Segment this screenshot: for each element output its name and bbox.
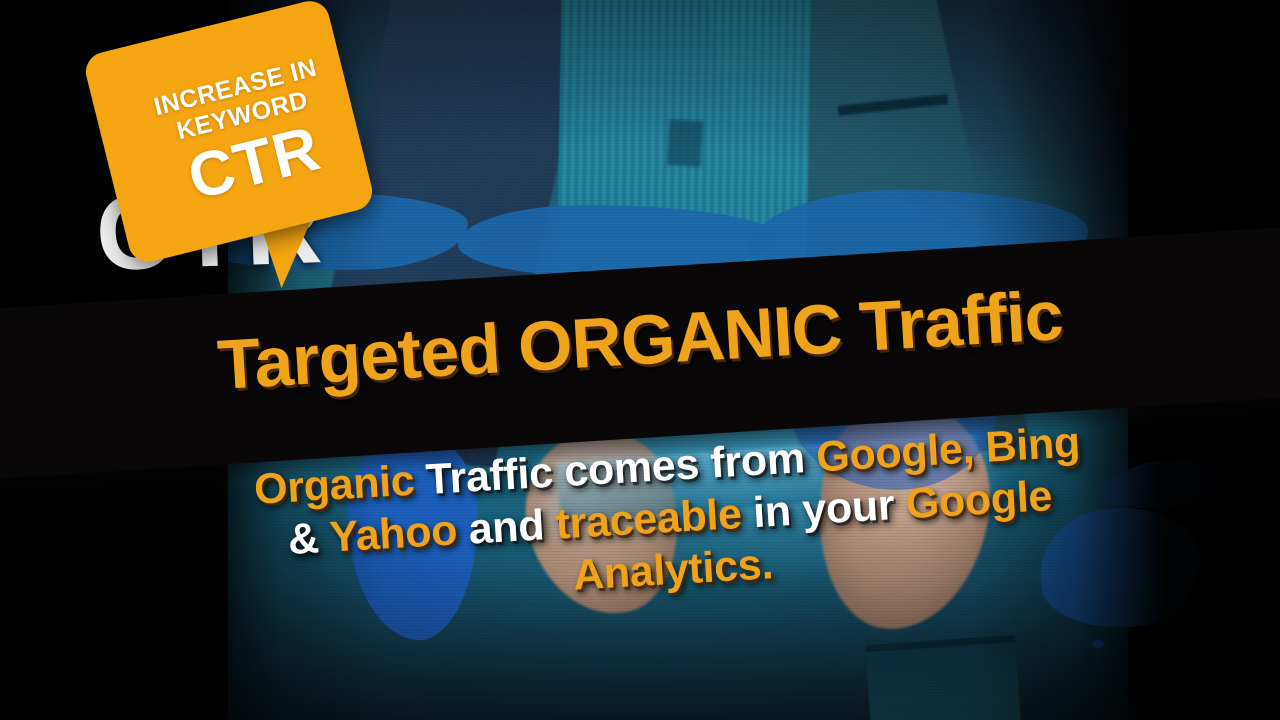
subtitle-word: and (456, 501, 546, 554)
subtitle-word: Google (893, 472, 1053, 529)
keyword-ctr-badge[interactable]: INCREASE IN KEYWORD CTR (104, 24, 404, 289)
subtitle-word: in your (740, 481, 895, 538)
subtitle-word: & (287, 514, 320, 564)
subtitle-word: traceable (543, 490, 743, 549)
subtitle-word: Organic (253, 457, 416, 514)
subtitle-word: Analytics. (572, 540, 775, 599)
speech-bubble-shape (82, 0, 377, 266)
slide-canvas: CTR INCREASE IN KEYWORD CTR Targeted ORG… (0, 0, 1280, 720)
subtitle-word: Yahoo (317, 506, 458, 562)
